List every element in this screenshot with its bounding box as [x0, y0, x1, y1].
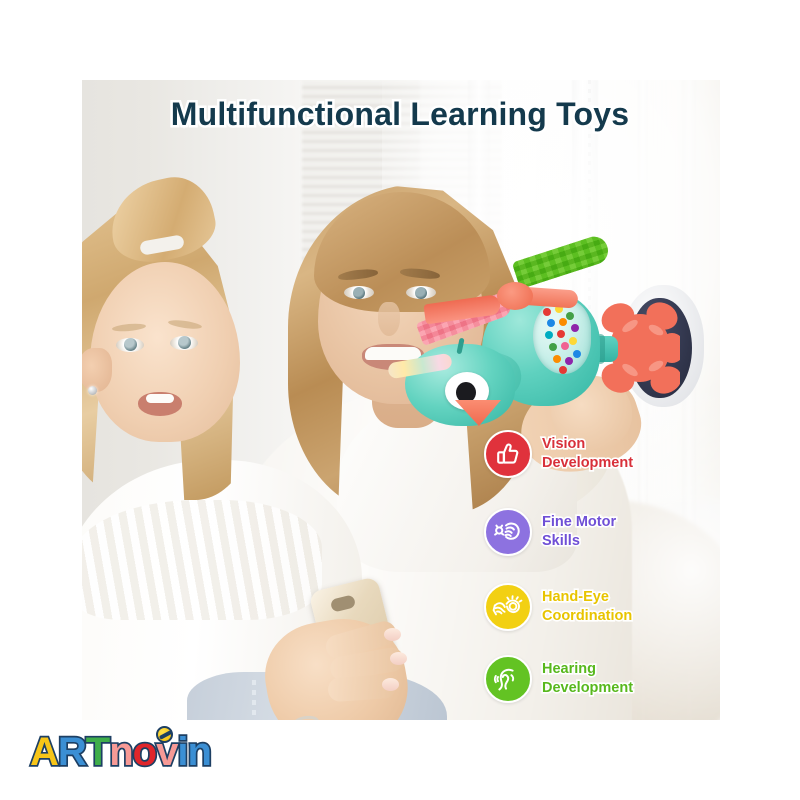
feature-badge-hearing[interactable]: Hearing Development	[484, 655, 633, 703]
child-dress-frill	[82, 500, 322, 620]
pinching-hand-icon	[492, 517, 524, 547]
child-mouth	[138, 392, 182, 416]
jeans-seam	[252, 680, 256, 720]
hand-eye-badge-circle	[484, 583, 532, 631]
feature-label-hand-eye: Hand-Eye Coordination	[542, 588, 632, 625]
hand-eye-icon	[491, 592, 525, 622]
fingernail	[384, 628, 401, 641]
fingernail	[390, 652, 407, 665]
fingernail	[382, 678, 399, 691]
child-ear	[82, 348, 112, 392]
pinching-hand-badge-circle	[484, 508, 532, 556]
logo-ball-icon	[156, 726, 173, 743]
feature-label-hearing: Hearing Development	[542, 660, 633, 697]
thumbs-up-icon	[493, 439, 523, 469]
mother-iris	[353, 287, 365, 299]
logo-letter-n2: n	[187, 732, 210, 772]
mother-iris	[415, 287, 427, 299]
ear-icon	[492, 664, 524, 694]
feature-label-vision: Vision Development	[542, 435, 633, 472]
logo-letter-t: T	[86, 732, 109, 772]
mother-teeth	[365, 347, 421, 360]
logo-letter-o: o	[133, 732, 156, 772]
logo-letter-n1: n	[109, 732, 132, 772]
feature-label-fine-motor: Fine Motor Skills	[542, 513, 616, 550]
page-title: Multifunctional Learning Toys	[0, 96, 800, 133]
artnovin-logo[interactable]: A R T n o v i n	[30, 728, 211, 772]
logo-letter-r: R	[58, 732, 86, 772]
child-earring	[88, 386, 97, 395]
mother-smile	[362, 344, 424, 370]
poster-canvas: Multifunctional Learning Toys Vision Dev…	[0, 0, 800, 800]
logo-letter-i: i	[177, 732, 187, 772]
thumbs-up-badge-circle	[484, 430, 532, 478]
mother-nose	[378, 302, 400, 336]
child-iris	[178, 336, 191, 349]
logo-letter-a: A	[30, 732, 58, 772]
child-teeth	[146, 394, 174, 403]
feature-badge-hand-eye[interactable]: Hand-Eye Coordination	[484, 583, 632, 631]
feature-badge-fine-motor[interactable]: Fine Motor Skills	[484, 508, 616, 556]
child-iris	[124, 338, 137, 351]
ear-badge-circle	[484, 655, 532, 703]
feature-badge-vision[interactable]: Vision Development	[484, 430, 633, 478]
